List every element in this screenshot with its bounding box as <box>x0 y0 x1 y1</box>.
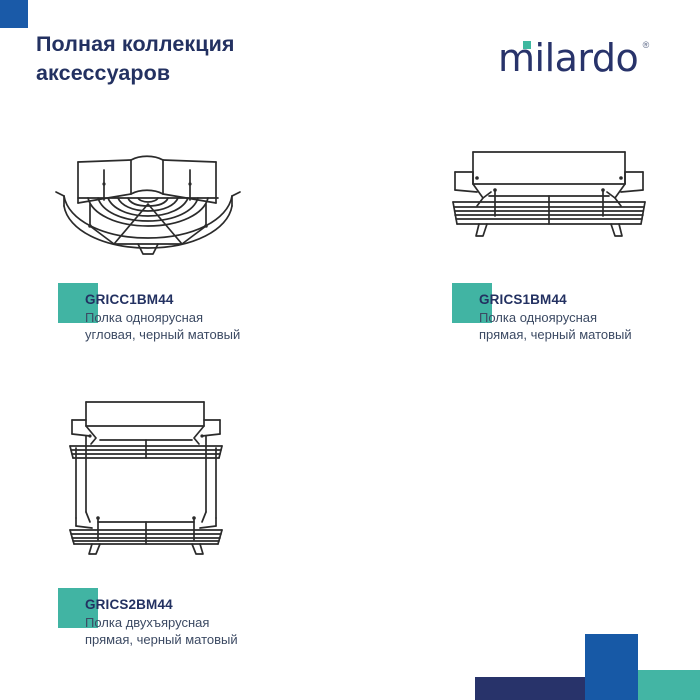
product-sku: GRICS2BM44 <box>85 596 295 613</box>
product-sku: GRICS1BM44 <box>479 291 689 308</box>
brand-logo-text: milardo <box>498 38 638 78</box>
product-description: Полка одноярусная прямая, черный матовый <box>479 309 644 343</box>
product-label-text: GRICC1BM44 Полка одноярусная угловая, че… <box>85 291 295 343</box>
decoration-bottom-blue-square <box>585 634 638 700</box>
catalog-page: Полная коллекция аксессуаров milardo ® <box>0 0 700 700</box>
registered-trademark-icon: ® <box>643 40 650 50</box>
decoration-top-left-square <box>0 0 28 28</box>
page-title: Полная коллекция аксессуаров <box>36 30 366 87</box>
brand-logo-dot-icon <box>523 41 531 49</box>
product-label-text: GRICS2BM44 Полка двухъярусная прямая, че… <box>85 596 295 648</box>
page-title-line-2: аксессуаров <box>36 59 366 88</box>
product-description: Полка двухъярусная прямая, черный матовы… <box>85 614 250 648</box>
product-description: Полка одноярусная угловая, черный матовы… <box>85 309 250 343</box>
product-label-text: GRICS1BM44 Полка одноярусная прямая, чер… <box>479 291 689 343</box>
product-image-straight-double-tier-shelf <box>62 392 234 565</box>
product-sku: GRICC1BM44 <box>85 291 295 308</box>
product-image-corner-single-tier-shelf <box>48 148 263 263</box>
product-image-straight-single-tier-shelf <box>443 140 655 260</box>
page-title-line-1: Полная коллекция <box>36 30 366 59</box>
brand-logo: milardo ® <box>498 38 638 78</box>
